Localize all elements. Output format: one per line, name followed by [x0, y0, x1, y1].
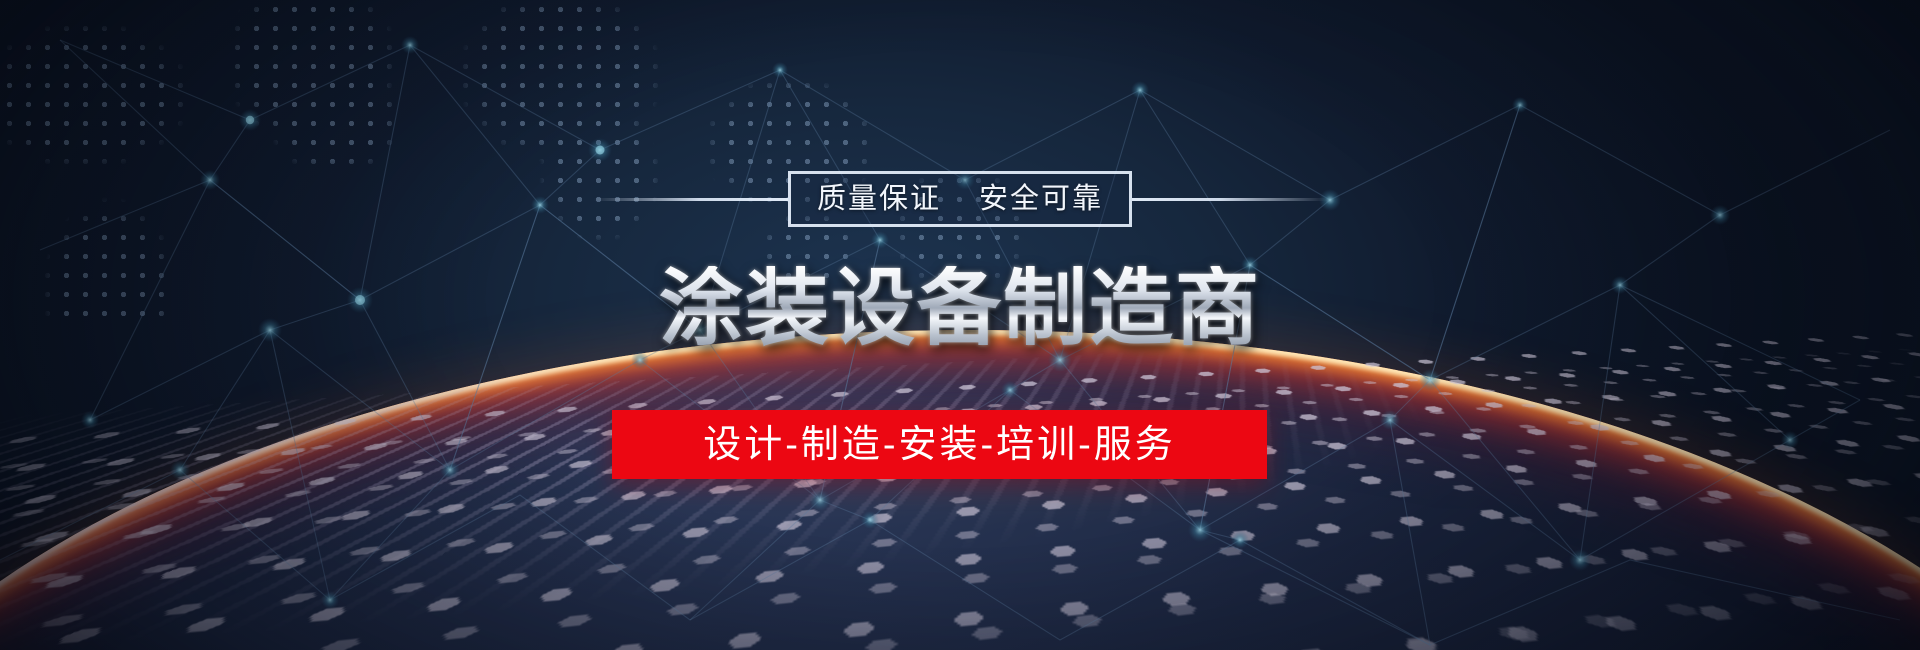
main-title: 涂装设备制造商 [0, 266, 1920, 350]
tagline-box: 质量保证 安全可靠 [788, 171, 1132, 227]
services-ribbon-text: 设计-制造-安装-培训-服务 [703, 426, 1176, 464]
tagline-item-2: 安全可靠 [979, 185, 1103, 214]
banner-content: 质量保证 安全可靠 涂装设备制造商 涂装设备制造商 设计-制造-安装-培训-服务 [0, 0, 1920, 650]
hero-banner: 质量保证 安全可靠 涂装设备制造商 涂装设备制造商 设计-制造-安装-培训-服务 [0, 0, 1920, 650]
title-stack: 涂装设备制造商 涂装设备制造商 [0, 0, 1920, 1]
tagline-rule-left [593, 198, 788, 201]
services-ribbon: 设计-制造-安装-培训-服务 [612, 410, 1267, 479]
tagline-row: 质量保证 安全可靠 [0, 171, 1920, 227]
tagline-rule-right [1132, 198, 1327, 201]
tagline-item-1: 质量保证 [817, 185, 941, 214]
